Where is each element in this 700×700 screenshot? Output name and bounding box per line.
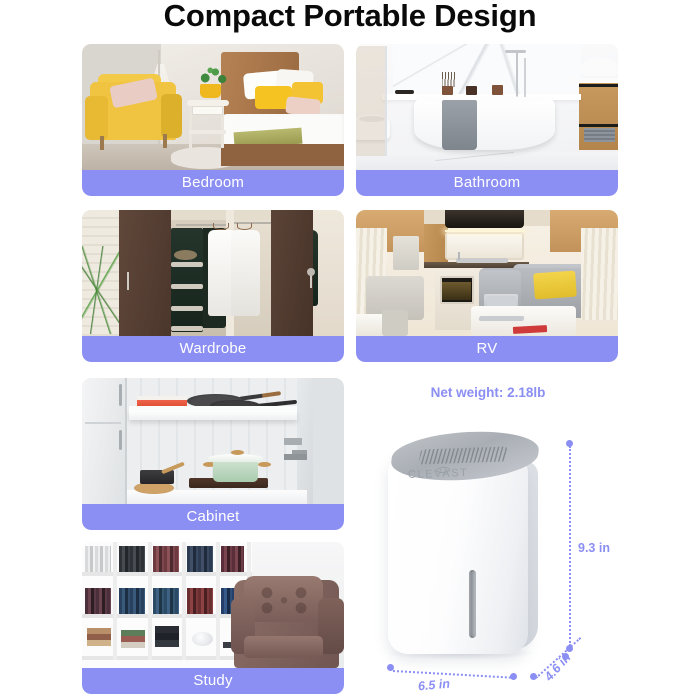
scene-label-bedroom: Bedroom (82, 170, 344, 196)
dim-line-width (393, 670, 511, 679)
scene-photo-bedroom (82, 44, 344, 170)
scene-label-study: Study (82, 668, 344, 694)
scene-label-rv: RV (356, 336, 618, 362)
page-title: Compact Portable Design (0, 0, 700, 34)
water-slot-icon (469, 570, 476, 638)
dim-label-width: 6.5 in (417, 677, 450, 694)
scene-card-study[interactable]: Study (82, 542, 344, 694)
product-body (388, 456, 528, 654)
scene-label-wardrobe: Wardrobe (82, 336, 344, 362)
scene-label-cabinet: Cabinet (82, 504, 344, 530)
net-weight-label: Net weight: 2.18lb (388, 385, 588, 400)
dim-line-height (569, 446, 571, 646)
dim-label-height: 9.3 in (578, 541, 610, 555)
scene-photo-rv (356, 210, 618, 336)
product-brand-logo: CLEVAST (408, 467, 469, 481)
scene-photo-bathroom (356, 44, 618, 170)
scene-card-rv[interactable]: RV (356, 210, 618, 362)
scene-photo-wardrobe (82, 210, 344, 336)
scene-card-cabinet[interactable]: Cabinet (82, 378, 344, 530)
vent-grille-icon (418, 447, 507, 465)
scene-card-wardrobe[interactable]: Wardrobe (82, 210, 344, 362)
scene-label-bathroom: Bathroom (356, 170, 618, 196)
scene-card-bedroom[interactable]: Bedroom (82, 44, 344, 196)
scene-card-bathroom[interactable]: Bathroom (356, 44, 618, 196)
scene-photo-cabinet (82, 378, 344, 504)
product-image-dehumidifier: CLEVAST (380, 418, 558, 658)
dim-dot-width-right (510, 673, 517, 680)
scene-photo-study (82, 542, 344, 668)
